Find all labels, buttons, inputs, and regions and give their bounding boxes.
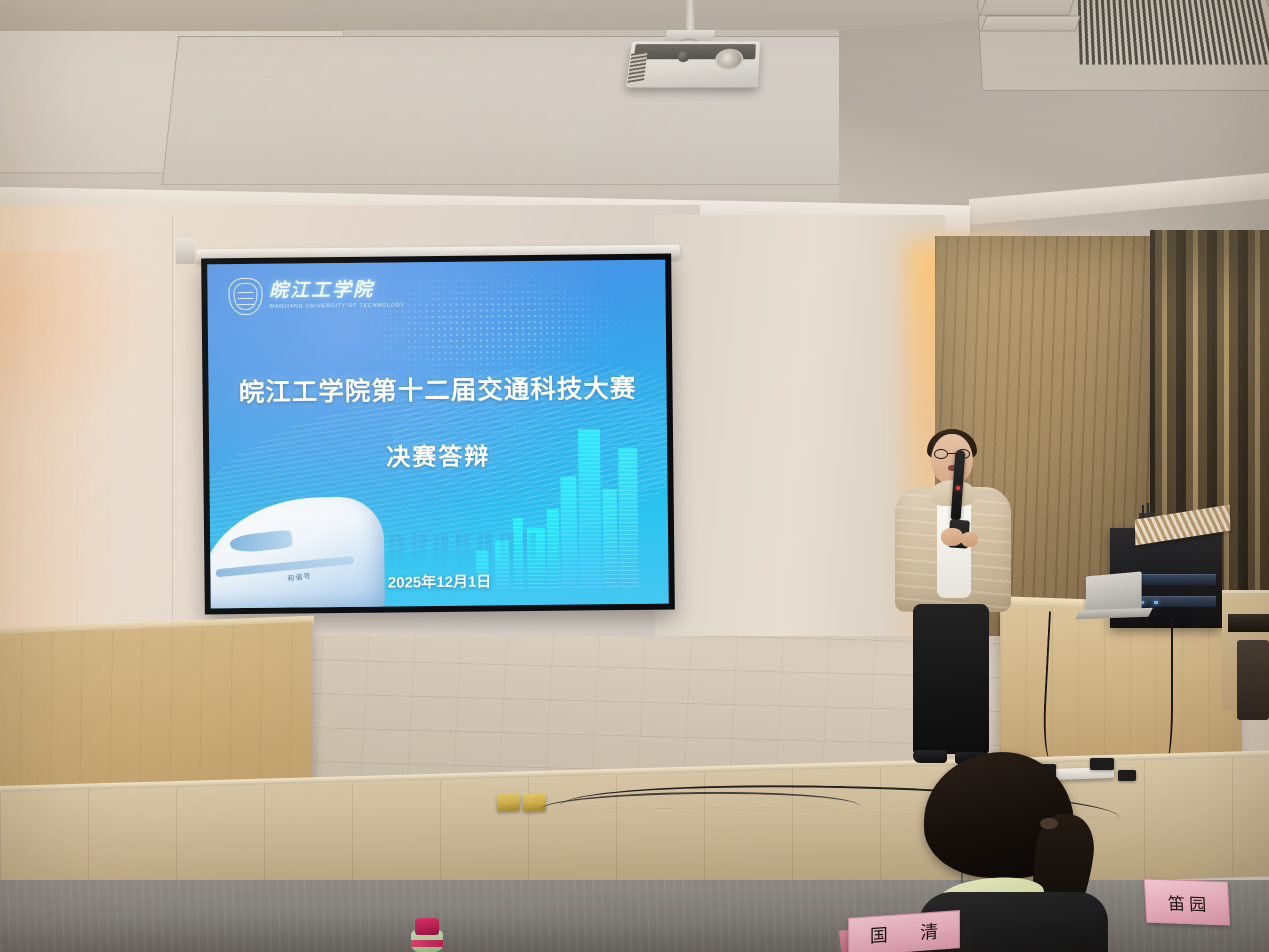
slide-subtitle: 决赛答辩 bbox=[386, 437, 490, 473]
presenter-head bbox=[931, 434, 973, 484]
cup-lid bbox=[415, 918, 439, 935]
presenter-trousers bbox=[913, 604, 989, 754]
crest-bar bbox=[237, 298, 253, 300]
skyline-building bbox=[619, 447, 639, 586]
name-card: 国 清 bbox=[848, 910, 960, 952]
ac-grille bbox=[1077, 0, 1269, 65]
skyline-building bbox=[603, 489, 618, 587]
presenter-hand-left bbox=[941, 528, 963, 546]
name-card: 笛 园 bbox=[1144, 878, 1230, 925]
skyline-building bbox=[578, 429, 602, 587]
university-crest-icon bbox=[228, 278, 262, 315]
ac-vane bbox=[980, 16, 1081, 32]
presenter bbox=[893, 432, 1013, 780]
hair-tie-icon bbox=[1040, 818, 1058, 829]
projector-lens-icon bbox=[715, 49, 744, 70]
air-conditioner-icon bbox=[976, 0, 1269, 91]
glasses-lens bbox=[934, 449, 948, 459]
projection-screen: 和谐号 皖江工学院 WANJIANG UNIVERSITY OF TECHNOL… bbox=[201, 254, 675, 615]
presentation-room-photo: 和谐号 皖江工学院 WANJIANG UNIVERSITY OF TECHNOL… bbox=[0, 0, 1269, 952]
pen-icon bbox=[1147, 503, 1149, 514]
train-stripe bbox=[216, 556, 355, 578]
slide-surface: 和谐号 皖江工学院 WANJIANG UNIVERSITY OF TECHNOL… bbox=[207, 260, 669, 609]
power-cable bbox=[1155, 618, 1173, 763]
slide-date: 2025年12月1日 bbox=[388, 571, 492, 593]
logo-chinese-name: 皖江工学院 bbox=[269, 281, 405, 301]
presenter-hand-right bbox=[961, 532, 978, 547]
crest-inner-ring bbox=[233, 283, 257, 310]
ceiling-panel-center bbox=[162, 36, 873, 185]
crest-bar bbox=[237, 292, 253, 294]
rack-led-icon bbox=[1154, 601, 1158, 604]
projector-icon bbox=[626, 41, 760, 87]
screen-roller-bracket bbox=[176, 238, 194, 264]
projector-knob bbox=[677, 51, 690, 62]
slide-title: 皖江工学院第十二届交通科技大赛 bbox=[239, 368, 637, 409]
crest-bar bbox=[237, 304, 253, 306]
pen-icon bbox=[1142, 505, 1144, 516]
logo-english-name: WANJIANG UNIVERSITY OF TECHNOLOGY bbox=[269, 303, 405, 310]
drink-cup-icon bbox=[409, 916, 445, 952]
shelf-opening bbox=[1228, 614, 1269, 632]
skyline-building bbox=[547, 508, 560, 587]
projector-mount-pole bbox=[686, 0, 695, 34]
ac-vane bbox=[979, 0, 1077, 16]
projector-vent bbox=[627, 51, 647, 83]
university-logo: 皖江工学院 WANJIANG UNIVERSITY OF TECHNOLOGY bbox=[228, 276, 405, 315]
floor-socket-icon bbox=[497, 794, 520, 812]
microphone-led-icon bbox=[956, 486, 960, 490]
logo-text-block: 皖江工学院 WANJIANG UNIVERSITY OF TECHNOLOGY bbox=[269, 281, 405, 310]
train-label: 和谐号 bbox=[287, 571, 312, 584]
side-chair bbox=[1237, 640, 1269, 720]
laptop-icon[interactable] bbox=[1086, 571, 1142, 613]
skyline-building bbox=[561, 477, 578, 588]
wall-seam bbox=[172, 215, 173, 635]
train-window bbox=[229, 529, 293, 554]
cup-band bbox=[411, 940, 443, 947]
